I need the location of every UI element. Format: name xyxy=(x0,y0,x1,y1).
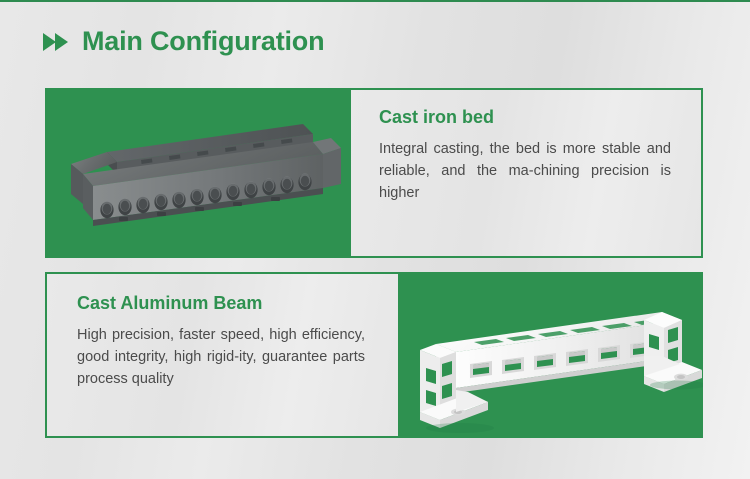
cast-aluminum-beam-illustration xyxy=(400,272,703,438)
card-heading: Cast Aluminum Beam xyxy=(77,294,376,314)
cast-iron-bed-text-pane: Cast iron bed Integral casting, the bed … xyxy=(349,88,703,258)
page-title: Main Configuration xyxy=(82,28,324,55)
cast-iron-bed-photo xyxy=(45,88,349,258)
page-header: Main Configuration xyxy=(42,28,324,55)
cast-aluminum-beam-text-pane: Cast Aluminum Beam High precision, faste… xyxy=(45,272,400,438)
config-card-cast-iron-bed: Cast iron bed Integral casting, the bed … xyxy=(45,88,703,258)
cast-iron-bed-illustration xyxy=(45,88,349,258)
top-accent-rule xyxy=(0,0,750,2)
card-heading: Cast iron bed xyxy=(379,108,681,128)
fast-forward-icon xyxy=(42,32,70,52)
card-body: High precision, faster speed, high effic… xyxy=(77,324,365,390)
card-body: Integral casting, the bed is more stable… xyxy=(379,138,671,204)
config-card-cast-aluminum-beam: Cast Aluminum Beam High precision, faste… xyxy=(45,272,703,438)
cast-aluminum-beam-photo xyxy=(400,272,703,438)
